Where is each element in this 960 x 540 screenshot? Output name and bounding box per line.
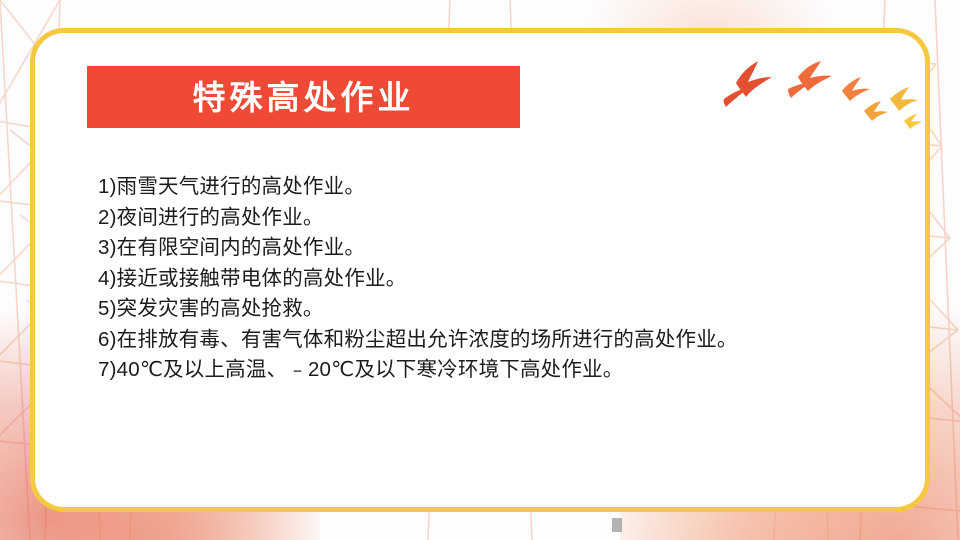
- body-line: 2)夜间进行的高处作业。: [98, 203, 898, 234]
- body-line: 4)接近或接触带电体的高处作业。: [98, 264, 898, 295]
- body-line: 5)突发灾害的高处抢救。: [98, 294, 898, 325]
- flying-birds-icon: [718, 55, 928, 135]
- body-line: 3)在有限空间内的高处作业。: [98, 233, 898, 264]
- body-text-block: 1)雨雪天气进行的高处作业。 2)夜间进行的高处作业。 3)在有限空间内的高处作…: [98, 172, 898, 386]
- title-banner: 特殊高处作业: [87, 66, 520, 128]
- page-title: 特殊高处作业: [193, 81, 415, 114]
- body-line: 1)雨雪天气进行的高处作业。: [98, 172, 898, 203]
- slide-canvas: 特殊高处作业 1)雨: [0, 0, 960, 540]
- bottom-marker: [612, 518, 622, 532]
- body-line: 7)40℃及以上高温、﹣20℃及以下寒冷环境下高处作业。: [98, 355, 898, 386]
- body-line: 6)在排放有毒、有害气体和粉尘超出允许浓度的场所进行的高处作业。: [98, 325, 898, 356]
